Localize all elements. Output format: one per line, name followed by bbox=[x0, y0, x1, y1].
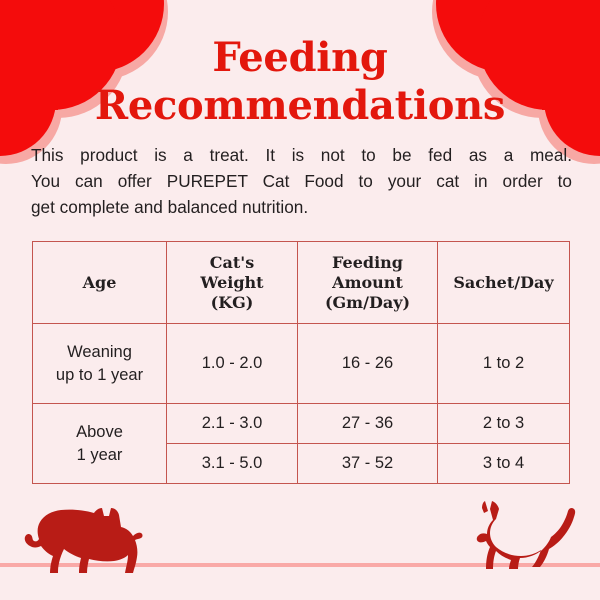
page-title: Feeding Recommendations bbox=[0, 34, 600, 130]
footer-decoration bbox=[0, 490, 600, 600]
table-header-amount: Feeding Amount (Gm/Day) bbox=[298, 242, 438, 324]
table-cell-amount: 27 - 36 bbox=[298, 404, 438, 444]
table-cell-amount: 16 - 26 bbox=[298, 324, 438, 404]
table-cell-weight: 2.1 - 3.0 bbox=[167, 404, 298, 444]
table-header-age: Age bbox=[33, 242, 167, 324]
table-header-weight-line-3: (KG) bbox=[211, 293, 254, 312]
table-header-row: Age Cat's Weight (KG) Feeding Amount (Gm… bbox=[33, 242, 570, 324]
table-header-age-label: Age bbox=[83, 273, 117, 292]
intro-line-2: You can offer PUREPET Cat Food to your c… bbox=[31, 168, 572, 194]
age-above-line-2: 1 year bbox=[77, 446, 123, 464]
age-weaning-line-2: up to 1 year bbox=[56, 366, 143, 384]
table-header-amount-line-2: Amount bbox=[332, 273, 403, 292]
table-cell-sachet: 3 to 4 bbox=[438, 444, 570, 484]
intro-paragraph: This product is a treat. It is not to be… bbox=[31, 142, 572, 220]
cat-silhouette-walking bbox=[22, 507, 144, 577]
table-header-amount-line-1: Feeding bbox=[332, 253, 403, 272]
table-cell-sachet: 1 to 2 bbox=[438, 324, 570, 404]
table-cell-age-weaning: Weaning up to 1 year bbox=[33, 324, 167, 404]
table-cell-sachet: 2 to 3 bbox=[438, 404, 570, 444]
page-title-line-1: Feeding bbox=[0, 34, 600, 82]
feeding-table-container: Age Cat's Weight (KG) Feeding Amount (Gm… bbox=[32, 241, 569, 484]
table-header-weight: Cat's Weight (KG) bbox=[167, 242, 298, 324]
table-header-sachet-label: Sachet/Day bbox=[453, 273, 553, 292]
table-header-sachet: Sachet/Day bbox=[438, 242, 570, 324]
intro-line-1: This product is a treat. It is not to be… bbox=[31, 142, 572, 168]
table-row: Above 1 year 2.1 - 3.0 27 - 36 2 to 3 bbox=[33, 404, 570, 444]
table-header-weight-line-1: Cat's bbox=[210, 253, 254, 272]
table-cell-weight: 1.0 - 2.0 bbox=[167, 324, 298, 404]
age-above-line-1: Above bbox=[76, 423, 123, 441]
table-cell-weight: 3.1 - 5.0 bbox=[167, 444, 298, 484]
table-row: Weaning up to 1 year 1.0 - 2.0 16 - 26 1… bbox=[33, 324, 570, 404]
age-weaning-line-1: Weaning bbox=[67, 343, 132, 361]
intro-line-3: get complete and balanced nutrition. bbox=[31, 194, 572, 220]
page-title-line-2: Recommendations bbox=[0, 82, 600, 130]
feeding-table: Age Cat's Weight (KG) Feeding Amount (Gm… bbox=[32, 241, 570, 484]
table-cell-amount: 37 - 52 bbox=[298, 444, 438, 484]
table-header-weight-line-2: Weight bbox=[200, 273, 263, 292]
cat-silhouette-tail-up bbox=[462, 499, 582, 577]
table-cell-age-above: Above 1 year bbox=[33, 404, 167, 484]
table-header-amount-line-3: (Gm/Day) bbox=[325, 293, 410, 312]
